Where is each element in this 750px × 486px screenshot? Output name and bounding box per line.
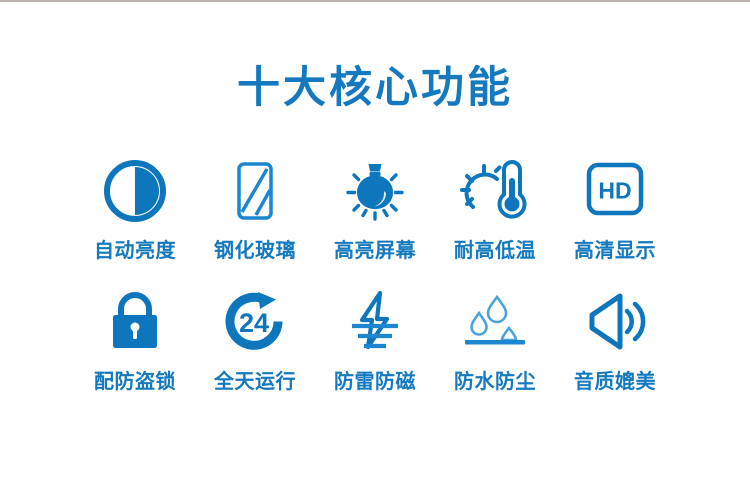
feature-label: 全天运行 bbox=[214, 369, 296, 395]
twentyfour-hour-icon: 24 bbox=[215, 286, 295, 358]
page-title: 十大核心功能 bbox=[0, 62, 750, 114]
lightbulb-icon bbox=[335, 155, 415, 227]
tempered-glass-icon bbox=[215, 155, 295, 227]
feature-item-temperature-resistant[interactable]: 耐高低温 bbox=[435, 155, 555, 264]
feature-highlight-page: 十大核心功能 自动亮度 bbox=[0, 0, 750, 486]
lightning-ground-icon bbox=[335, 286, 415, 358]
feature-row-2: 配防盗锁 24 全天运行 bbox=[75, 286, 675, 395]
top-edge-divider bbox=[0, 0, 750, 2]
speaker-icon bbox=[575, 286, 655, 358]
svg-text:24: 24 bbox=[239, 308, 269, 338]
svg-text:HD: HD bbox=[598, 178, 631, 204]
feature-label: 防水防尘 bbox=[454, 369, 536, 395]
feature-label: 钢化玻璃 bbox=[214, 238, 296, 264]
feature-item-audio-quality[interactable]: 音质媲美 bbox=[555, 286, 675, 395]
hd-badge-icon: HD bbox=[575, 155, 655, 227]
brightness-contrast-icon bbox=[95, 155, 175, 227]
feature-item-tempered-glass[interactable]: 钢化玻璃 bbox=[195, 155, 315, 264]
waterdrops-icon bbox=[455, 286, 535, 358]
feature-row-1: 自动亮度 钢化玻璃 bbox=[75, 155, 675, 264]
feature-label: 防雷防磁 bbox=[334, 369, 416, 395]
feature-label: 自动亮度 bbox=[94, 238, 176, 264]
feature-label: 配防盗锁 bbox=[94, 369, 176, 395]
feature-item-hd-display[interactable]: HD 高清显示 bbox=[555, 155, 675, 264]
feature-item-lightning-proof[interactable]: 防雷防磁 bbox=[315, 286, 435, 395]
feature-label: 高清显示 bbox=[574, 238, 656, 264]
feature-label: 高亮屏幕 bbox=[334, 238, 416, 264]
feature-item-bright-screen[interactable]: 高亮屏幕 bbox=[315, 155, 435, 264]
feature-item-waterproof-dustproof[interactable]: 防水防尘 bbox=[435, 286, 555, 395]
sun-thermometer-icon bbox=[455, 155, 535, 227]
feature-item-anti-theft-lock[interactable]: 配防盗锁 bbox=[75, 286, 195, 395]
feature-item-24h-operation[interactable]: 24 全天运行 bbox=[195, 286, 315, 395]
feature-label: 音质媲美 bbox=[574, 369, 656, 395]
feature-item-auto-brightness[interactable]: 自动亮度 bbox=[75, 155, 195, 264]
feature-grid: 自动亮度 钢化玻璃 bbox=[75, 155, 675, 395]
feature-label: 耐高低温 bbox=[454, 238, 536, 264]
padlock-icon bbox=[95, 286, 175, 358]
